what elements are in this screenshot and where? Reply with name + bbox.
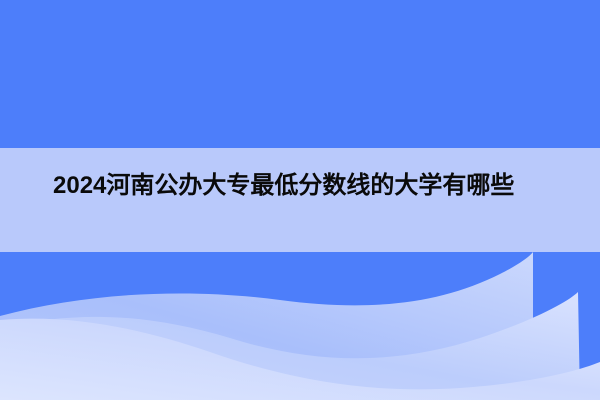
title-band: 2024河南公办大专最低分数线的大学有哪些 [0,148,600,252]
cover-banner: 2024河南公办大专最低分数线的大学有哪些 [0,0,600,400]
page-title: 2024河南公办大专最低分数线的大学有哪些 [53,168,558,204]
wave-graphic [0,252,600,400]
wave-decoration-panel [0,252,600,400]
top-color-block [0,0,600,148]
